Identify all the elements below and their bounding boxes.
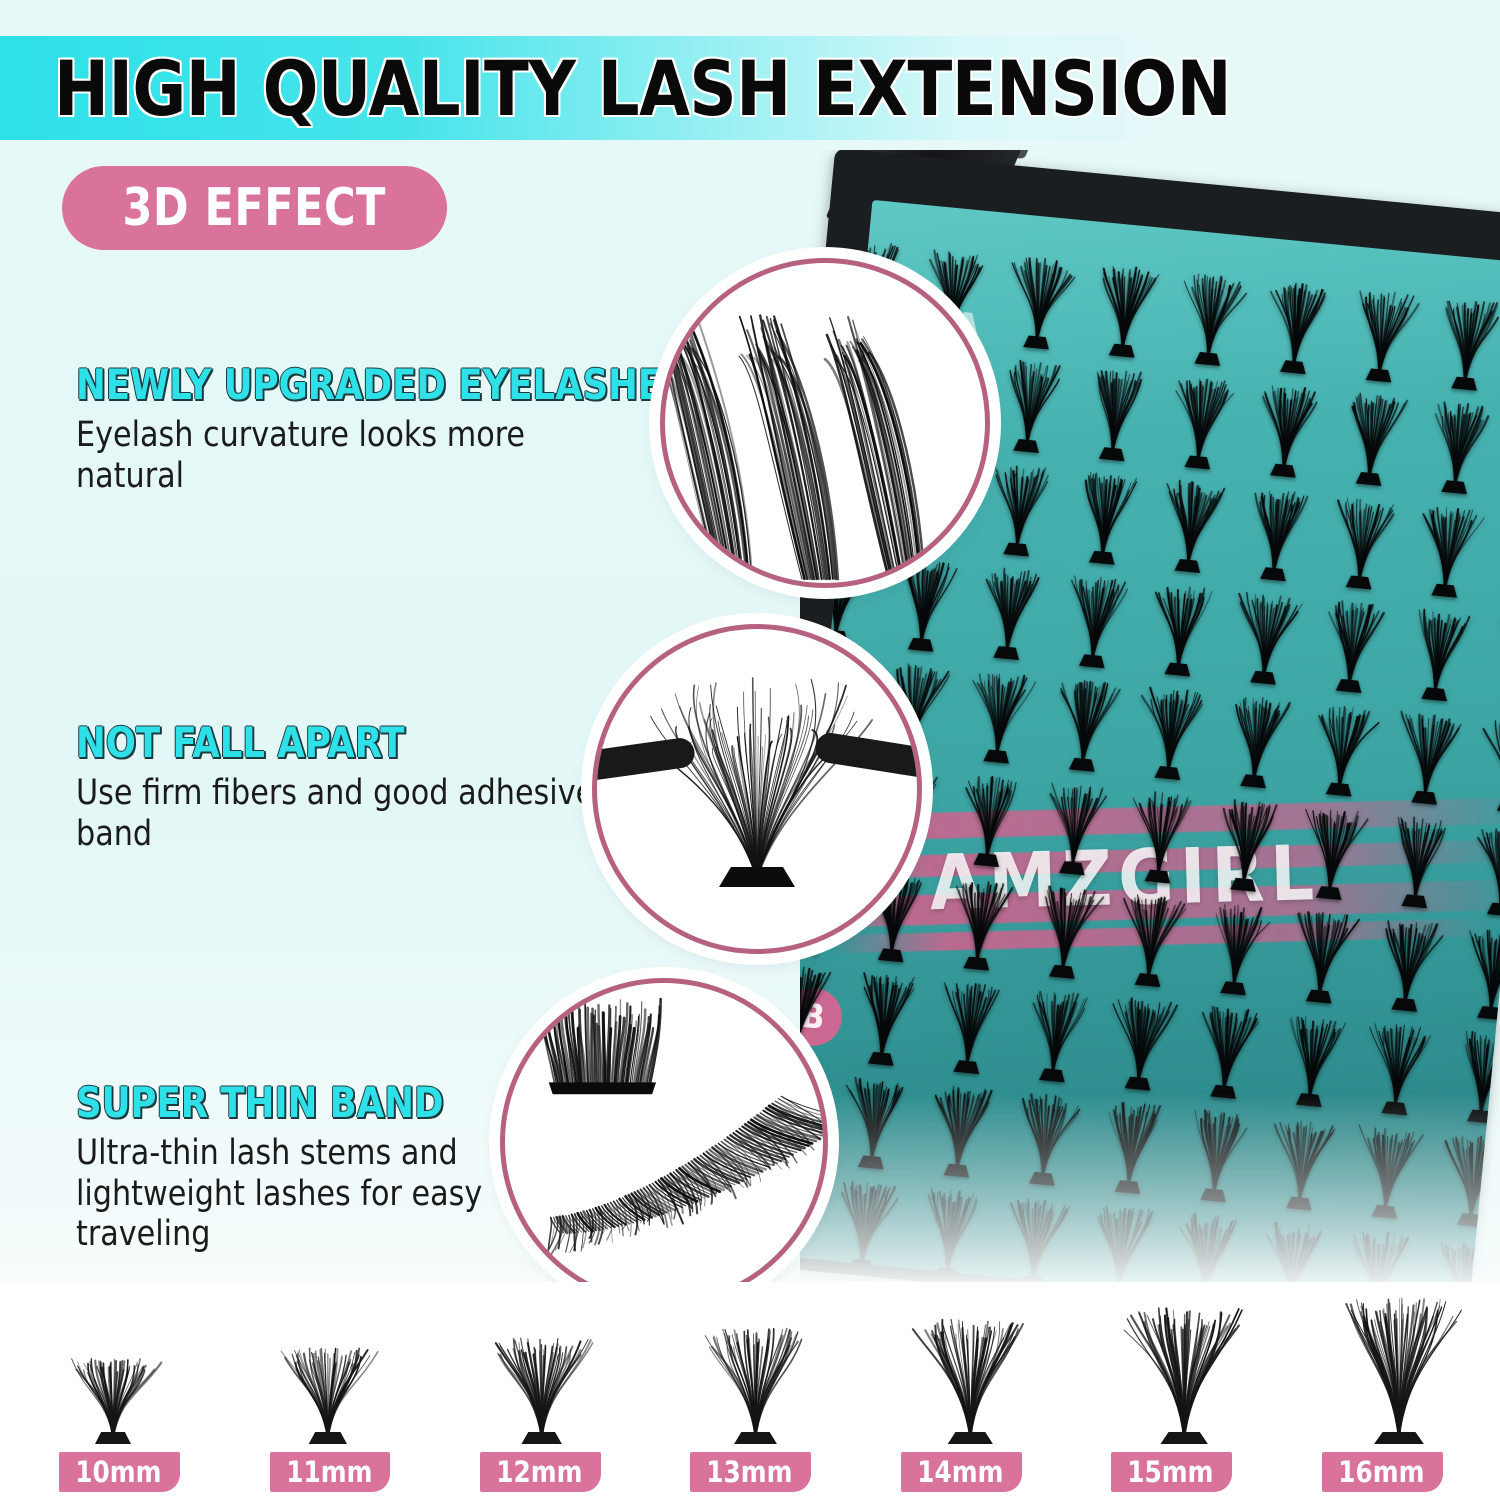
tray-lash-cluster xyxy=(1095,990,1190,1094)
tray-lash-cluster xyxy=(1170,1101,1265,1205)
tray-lash-cluster xyxy=(1200,791,1295,895)
tray-lash-cluster xyxy=(1105,886,1200,990)
lash-cluster-icon xyxy=(1316,1292,1482,1444)
tray-lash-cluster xyxy=(1155,369,1250,473)
lash-size-sample: 10mm xyxy=(0,1282,200,1500)
tray-lash-cluster xyxy=(1437,1023,1500,1127)
tray-lash-cluster xyxy=(1115,783,1210,887)
lash-size-sample: 15mm xyxy=(1071,1282,1271,1500)
tray-lash-cluster xyxy=(904,1180,999,1284)
tray-lash-cluster xyxy=(1371,807,1466,911)
tray-lash-cluster xyxy=(1326,385,1421,489)
tray-lash-cluster xyxy=(1059,464,1154,568)
tray-lash-cluster xyxy=(818,1172,913,1276)
tray-lash-cluster xyxy=(1401,497,1496,601)
size-chip-label: 13mm xyxy=(707,1455,793,1489)
lash-size-sample: 13mm xyxy=(643,1282,843,1500)
tray-lash-cluster xyxy=(1240,377,1335,481)
size-chip-label: 12mm xyxy=(496,1455,582,1489)
tray-lash-cluster xyxy=(1391,600,1486,704)
lash-cluster-icon xyxy=(53,1352,173,1444)
tray-lash-cluster xyxy=(1085,1093,1180,1197)
tray-lash-cluster xyxy=(1296,696,1391,800)
lash-cluster-icon xyxy=(474,1332,609,1444)
size-chip: 15mm xyxy=(1111,1452,1232,1492)
size-chip-label: 16mm xyxy=(1338,1455,1424,1489)
page-title: HIGH QUALITY LASH EXTENSION xyxy=(54,36,1129,140)
tray-lash-cluster xyxy=(999,1085,1094,1189)
tray-lash-cluster xyxy=(1230,480,1325,584)
tray-lash-cluster xyxy=(914,1077,1009,1181)
tray-lash-cluster xyxy=(1069,360,1164,464)
tray-lash-cluster xyxy=(1210,687,1305,791)
tray-lash-cluster xyxy=(1039,671,1134,775)
tray-lash-cluster xyxy=(989,1188,1084,1292)
size-chip-label: 14mm xyxy=(917,1455,1003,1489)
tray-lash-cluster xyxy=(1190,894,1285,998)
tray-lash-cluster xyxy=(1421,290,1500,394)
tray-lash-cluster xyxy=(828,1068,923,1172)
tray-lash-cluster xyxy=(1145,472,1240,576)
feature-not-fall-apart: NOT FALL APART Use firm fibers and good … xyxy=(76,718,636,854)
tray-lash-cluster xyxy=(1220,584,1315,688)
tray-lash-cluster xyxy=(953,663,1048,767)
tray-lash-cluster xyxy=(983,352,1078,456)
tray-lash-cluster xyxy=(1427,1126,1500,1230)
feature-newly-upgraded-eyelashes: NEWLY UPGRADED EYELASHES Eyelash curvatu… xyxy=(76,360,636,496)
badge-3d-effect-label: 3D EFFECT xyxy=(123,178,386,238)
lash-cluster-tweezer-icon xyxy=(597,629,917,949)
tray-lash-cluster xyxy=(943,766,1038,870)
size-chip: 11mm xyxy=(270,1452,391,1492)
tray-lash-cluster xyxy=(1306,592,1401,696)
tray-lash-cluster xyxy=(1336,282,1431,386)
badge-3d-effect: 3D EFFECT xyxy=(62,166,447,250)
tray-lash-cluster xyxy=(1029,774,1124,878)
lash-size-sample: 16mm xyxy=(1286,1282,1486,1500)
tray-lash-cluster xyxy=(1286,799,1381,903)
tray-lash-cluster xyxy=(1361,911,1456,1015)
size-chip: 16mm xyxy=(1322,1452,1443,1492)
tray-lash-cluster xyxy=(1411,393,1500,497)
size-chip-label: 10mm xyxy=(75,1455,161,1489)
size-chip: 13mm xyxy=(690,1452,811,1492)
tray-lash-cluster xyxy=(923,973,1018,1077)
thin-band-lash-strip-icon xyxy=(505,983,823,1301)
tray-lash-cluster xyxy=(838,965,933,1069)
lash-size-sample: 11mm xyxy=(214,1282,414,1500)
tray-lash-cluster xyxy=(1447,919,1500,1023)
tray-lash-cluster xyxy=(933,870,1028,974)
size-chip-label: 11mm xyxy=(286,1455,372,1489)
tray-lash-cluster xyxy=(993,249,1088,353)
tray-lash-cluster xyxy=(1250,273,1345,377)
tray-lash-cluster xyxy=(1164,265,1259,369)
size-chip: 12mm xyxy=(480,1452,601,1492)
tray-lash-cluster xyxy=(1125,679,1220,783)
callout-lash-cluster-tweezer xyxy=(592,624,922,954)
callout-thin-band-strip xyxy=(500,978,828,1306)
tray-lash-cluster xyxy=(1266,1006,1361,1110)
tray-lash-cluster xyxy=(1180,998,1275,1102)
tray-lash-cluster xyxy=(1135,576,1230,680)
feature-body: Eyelash curvature looks more natural xyxy=(76,415,614,496)
tray-lash-cluster xyxy=(1316,489,1411,593)
lash-size-sample: 12mm xyxy=(429,1282,629,1500)
tray-lash-cluster xyxy=(1276,903,1371,1007)
tray-lash-cluster xyxy=(1256,1110,1351,1214)
tray-lash-cluster xyxy=(1049,567,1144,671)
tray-lash-rows xyxy=(873,200,1500,267)
size-chip: 14mm xyxy=(901,1452,1022,1492)
tray-lash-cluster xyxy=(1009,981,1104,1085)
callout-curved-lash-fibers xyxy=(660,258,990,588)
lash-cluster-icon xyxy=(1105,1302,1263,1444)
tray-lash-cluster xyxy=(1079,257,1174,361)
tray-lash-cluster xyxy=(1352,1014,1447,1118)
lash-cluster-icon xyxy=(895,1312,1046,1444)
tray-lash-cluster xyxy=(1381,704,1476,808)
tray-lash-cluster xyxy=(1019,878,1114,982)
size-chip: 10mm xyxy=(59,1452,180,1492)
tray-lash-cluster xyxy=(1342,1118,1437,1222)
infographic-canvas: HIGH QUALITY LASH EXTENSION 3D EFFECT NE… xyxy=(0,0,1500,1500)
feature-heading: NEWLY UPGRADED EYELASHES xyxy=(76,360,602,409)
feature-heading: NOT FALL APART xyxy=(76,718,602,767)
tray-lash-cluster xyxy=(973,456,1068,560)
curved-lash-fibers-icon xyxy=(665,263,985,583)
lash-cluster-icon xyxy=(684,1322,827,1444)
lash-cluster-icon xyxy=(264,1342,392,1444)
size-chip-label: 15mm xyxy=(1128,1455,1214,1489)
lash-size-samples: 10mm11mm12mm13mm14mm15mm16mm xyxy=(0,1282,1500,1500)
lash-size-sample: 14mm xyxy=(857,1282,1057,1500)
feature-body: Use firm fibers and good adhesive band xyxy=(76,773,614,854)
